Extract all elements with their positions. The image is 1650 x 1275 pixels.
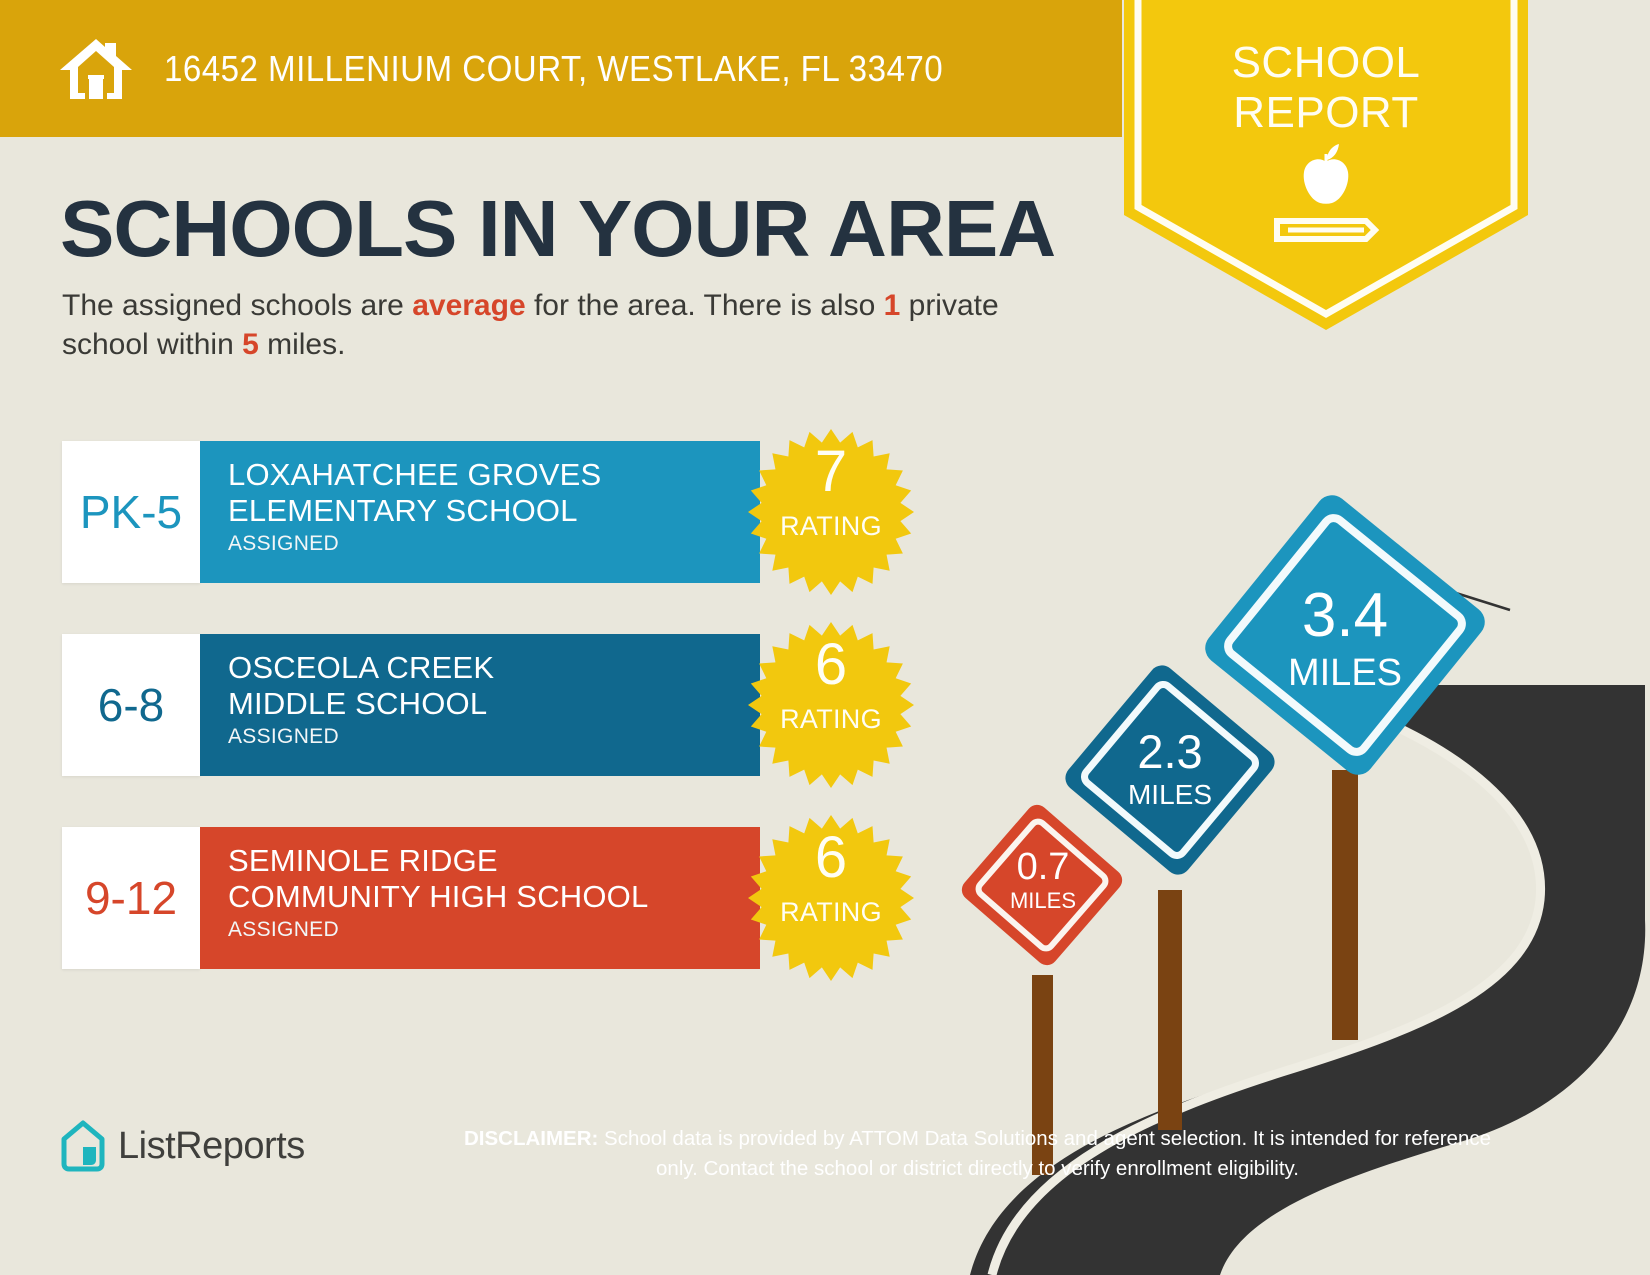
school-info-bar: SEMINOLE RIDGE COMMUNITY HIGH SCHOOL ASS… xyxy=(200,827,760,969)
school-row[interactable]: 9-12 SEMINOLE RIDGE COMMUNITY HIGH SCHOO… xyxy=(62,827,862,969)
school-name: SEMINOLE RIDGE COMMUNITY HIGH SCHOOL xyxy=(228,843,760,915)
school-row[interactable]: PK-5 LOXAHATCHEE GROVES ELEMENTARY SCHOO… xyxy=(62,441,862,583)
subtitle-highlight-count: 1 xyxy=(884,289,901,322)
subtitle-part-4: miles. xyxy=(259,328,346,361)
school-status: ASSIGNED xyxy=(228,532,760,556)
school-rating-burst: 7 RATING xyxy=(746,419,916,605)
school-name: LOXAHATCHEE GROVES ELEMENTARY SCHOOL xyxy=(228,457,760,529)
page-title: SCHOOLS IN YOUR AREA xyxy=(60,189,1055,269)
school-grade-box: 9-12 xyxy=(62,827,200,969)
listreports-logo[interactable]: ListReports xyxy=(60,1120,305,1172)
home-icon xyxy=(58,37,134,101)
school-status: ASSIGNED xyxy=(228,918,760,942)
disclaimer-text: DISCLAIMER: School data is provided by A… xyxy=(455,1124,1500,1184)
school-info-bar: LOXAHATCHEE GROVES ELEMENTARY SCHOOL ASS… xyxy=(200,441,760,583)
header-address: 16452 MILLENIUM COURT, WESTLAKE, FL 3347… xyxy=(164,48,943,90)
school-grade-label: 9-12 xyxy=(85,871,177,925)
subtitle-highlight-average: average xyxy=(412,289,525,322)
disclaimer-body: School data is provided by ATTOM Data So… xyxy=(598,1127,1491,1180)
school-grade-label: PK-5 xyxy=(80,485,182,539)
school-rating-value: 6 xyxy=(746,636,916,694)
school-rating-burst: 6 RATING xyxy=(746,805,916,991)
school-rating-burst: 6 RATING xyxy=(746,612,916,798)
school-list: PK-5 LOXAHATCHEE GROVES ELEMENTARY SCHOO… xyxy=(62,441,862,1020)
header-bar: 16452 MILLENIUM COURT, WESTLAKE, FL 3347… xyxy=(0,0,1122,137)
school-info-bar: OSCEOLA CREEK MIDDLE SCHOOL ASSIGNED xyxy=(200,634,760,776)
school-row[interactable]: 6-8 OSCEOLA CREEK MIDDLE SCHOOL ASSIGNED… xyxy=(62,634,862,776)
subtitle-part-1: The assigned schools are xyxy=(62,289,412,322)
subtitle-highlight-radius: 5 xyxy=(242,328,259,361)
school-rating-label: RATING xyxy=(746,511,916,542)
school-grade-box: PK-5 xyxy=(62,441,200,583)
school-name: OSCEOLA CREEK MIDDLE SCHOOL xyxy=(228,650,760,722)
disclaimer-label: DISCLAIMER: xyxy=(464,1127,598,1150)
school-report-badge: SCHOOL REPORT xyxy=(1124,0,1528,330)
subtitle-part-2: for the area. There is also xyxy=(526,289,884,322)
listreports-logo-name: ListReports xyxy=(118,1125,305,1168)
distance-sign-1 xyxy=(951,794,1132,975)
school-grade-label: 6-8 xyxy=(98,678,164,732)
page-subtitle: The assigned schools are average for the… xyxy=(62,286,1072,364)
school-rating-value: 6 xyxy=(746,829,916,887)
school-rating-label: RATING xyxy=(746,897,916,928)
listreports-house-icon xyxy=(60,1120,106,1172)
school-rating-label: RATING xyxy=(746,704,916,735)
school-rating-value: 7 xyxy=(746,443,916,501)
school-grade-box: 6-8 xyxy=(62,634,200,776)
school-status: ASSIGNED xyxy=(228,725,760,749)
